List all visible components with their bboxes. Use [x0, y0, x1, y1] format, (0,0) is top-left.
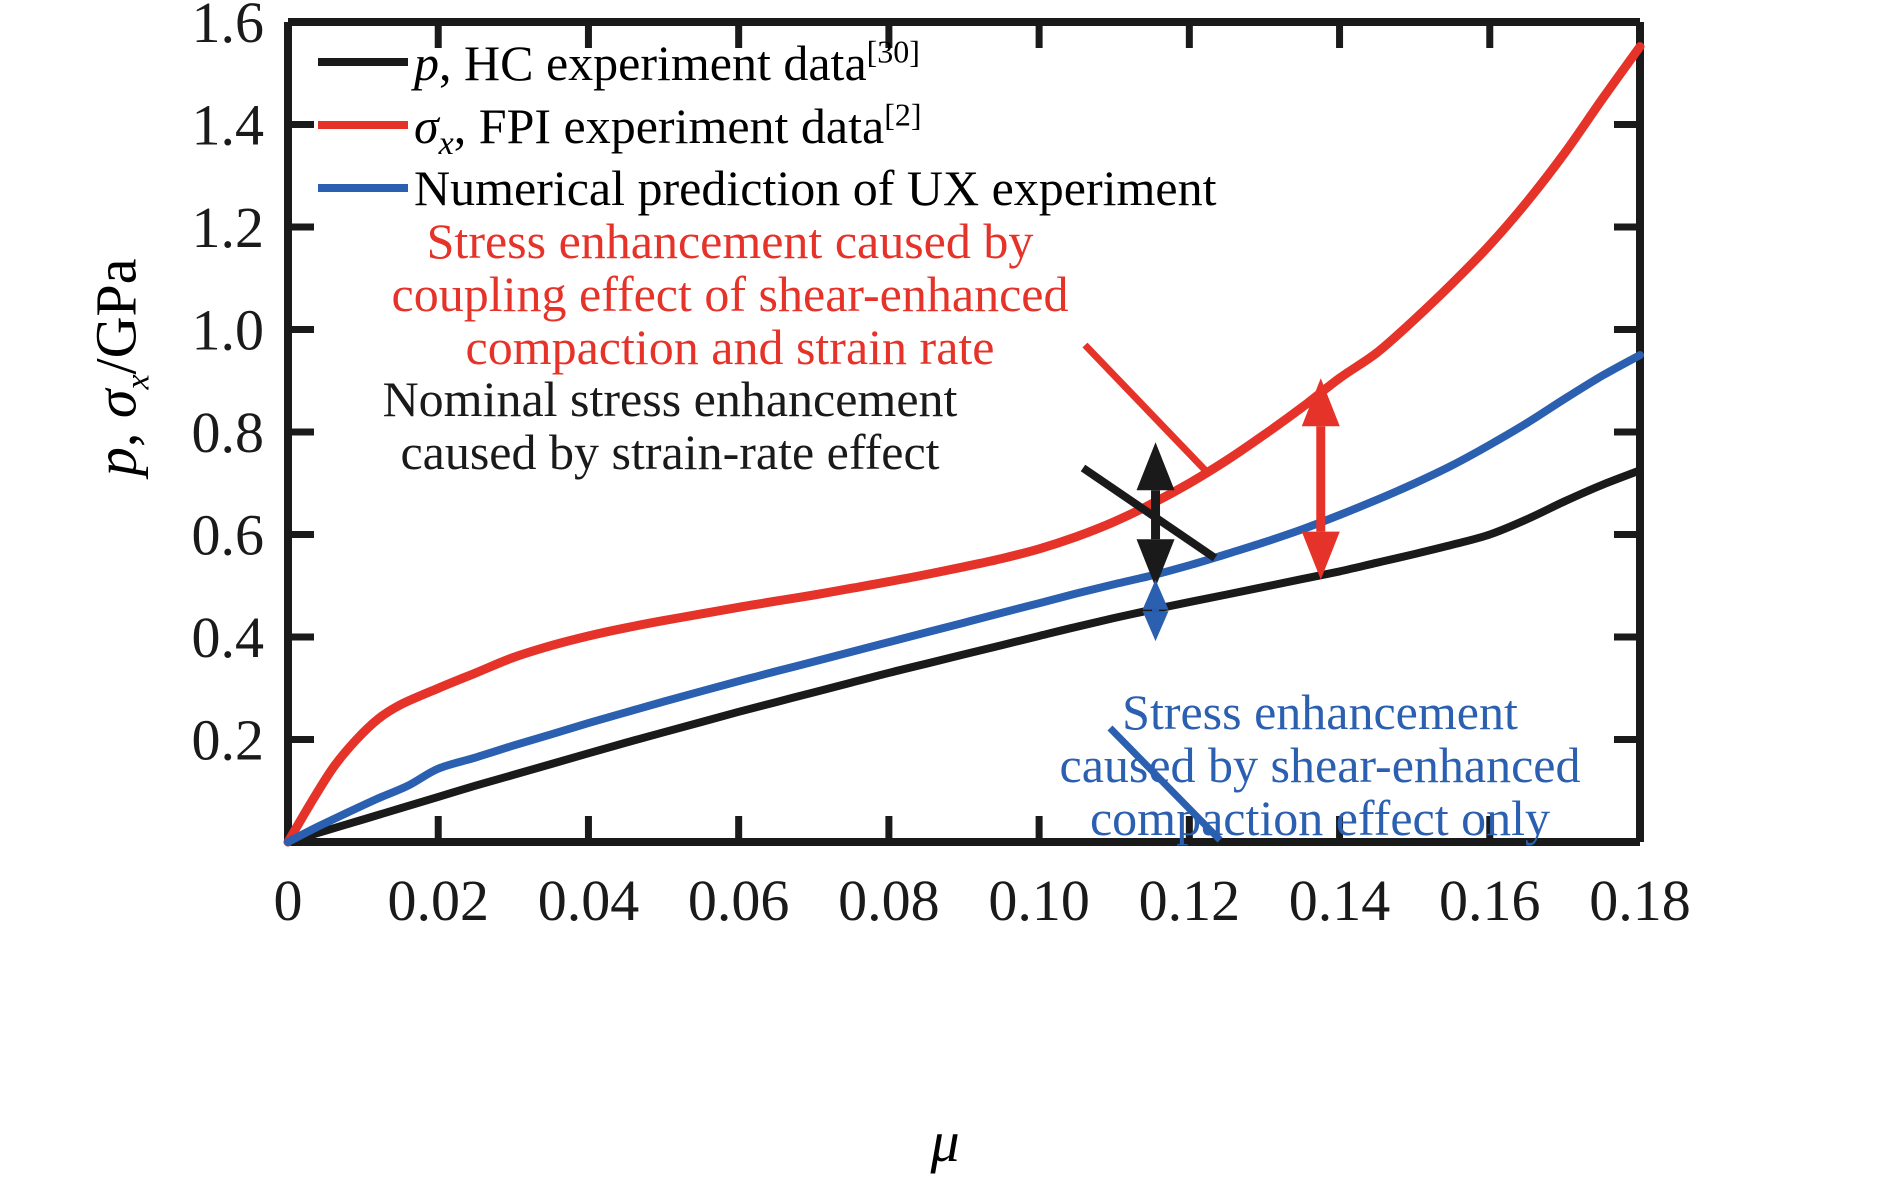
- x-tick-label: 0.08: [838, 868, 940, 933]
- y-tick-label: 1.2: [192, 195, 265, 260]
- blue-annotation: Stress enhancement caused by shear-enhan…: [1010, 686, 1630, 845]
- legend-hc-ref: [30]: [867, 33, 920, 69]
- x-axis-tick-labels: 00.020.040.060.080.100.120.140.160.18: [274, 868, 1691, 933]
- x-tick-label: 0.04: [538, 868, 640, 933]
- black-annotation-line-1: Nominal stress enhancement: [330, 373, 1010, 426]
- x-tick-label: 0.16: [1439, 868, 1541, 933]
- legend-label-ux: Numerical prediction of UX experiment: [414, 159, 1217, 217]
- blue-annotation-line-2: caused by shear-enhanced: [1010, 739, 1630, 792]
- x-tick-label: 0.06: [688, 868, 790, 933]
- legend-label-hc: p, HC experiment data[30]: [414, 33, 920, 92]
- y-axis-title-unit: /GPa: [84, 258, 149, 374]
- legend-label-fpi: σx, FPI experiment data[2]: [414, 96, 922, 163]
- black-annotation-line-2: caused by strain-rate effect: [330, 426, 1010, 479]
- y-tick-label: 1.4: [192, 93, 265, 158]
- red-annotation-line-3: compaction and strain rate: [360, 321, 1100, 374]
- legend-ux-text: Numerical prediction of UX experiment: [414, 160, 1217, 216]
- y-tick-label: 0.8: [192, 400, 265, 465]
- red-annotation-line-2: coupling effect of shear-enhanced: [360, 268, 1100, 321]
- y-axis-title-sigma: σ: [84, 390, 149, 419]
- legend-fpi-text: , FPI experiment data: [454, 98, 884, 154]
- x-tick-label: 0.02: [387, 868, 489, 933]
- y-tick-label: 0.2: [192, 708, 265, 773]
- y-axis-title-sub: x: [119, 374, 156, 389]
- blue-annotation-line-1: Stress enhancement: [1010, 686, 1630, 739]
- y-axis-tick-labels: 0.20.40.60.81.01.21.41.6: [192, 0, 265, 773]
- x-axis-title: μ: [0, 1108, 1890, 1175]
- y-tick-label: 0.4: [192, 605, 265, 670]
- legend-hc-text: , HC experiment data: [439, 35, 867, 91]
- legend-fpi-ref: [2]: [884, 96, 921, 132]
- blue-annotation-line-3: compaction effect only: [1010, 792, 1630, 845]
- x-tick-label: 0.14: [1289, 868, 1391, 933]
- x-tick-label: 0.12: [1139, 868, 1241, 933]
- y-axis-title-p: p: [84, 447, 149, 476]
- x-tick-label: 0.10: [988, 868, 1090, 933]
- x-tick-label: 0: [274, 868, 303, 933]
- y-tick-label: 1.6: [192, 0, 265, 55]
- legend-fpi-symbol: σ: [414, 98, 439, 154]
- legend-hc-symbol: p: [414, 35, 439, 91]
- red-annotation: Stress enhancement caused by coupling ef…: [360, 215, 1100, 374]
- y-tick-label: 1.0: [192, 298, 265, 363]
- x-axis-title-mu: μ: [930, 1109, 959, 1174]
- black-annotation: Nominal stress enhancement caused by str…: [330, 373, 1010, 479]
- chart-figure: 0.20.40.60.81.01.21.41.6 00.020.040.060.…: [0, 0, 1890, 1201]
- y-axis-title-comma: ,: [84, 418, 149, 447]
- x-tick-label: 0.18: [1589, 868, 1691, 933]
- legend-fpi-subscript: x: [439, 125, 454, 162]
- y-axis-title: p, σx/GPa: [83, 187, 158, 547]
- y-tick-label: 0.6: [192, 503, 265, 568]
- red-annotation-line-1: Stress enhancement caused by: [360, 215, 1100, 268]
